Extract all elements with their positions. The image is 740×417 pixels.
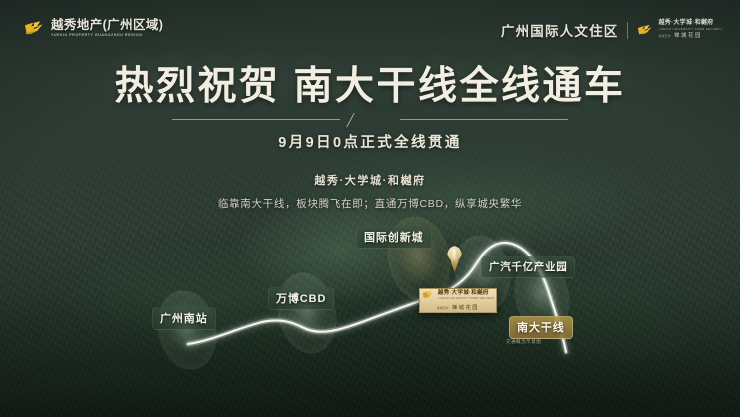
- brand-name-en: YUEXIU PROPERTY GUANGZHOU REGION: [51, 34, 163, 38]
- plate-project-name: 越秀·大学城·和樾府: [438, 290, 495, 297]
- header-bar: 越秀地产(广州区域) YUEXIU PROPERTY GUANGZHOU REG…: [0, 0, 740, 58]
- plate-sub-prefix: 璀璨首作: [437, 306, 449, 310]
- page-title: 热烈祝贺南大干线全线通车: [0, 66, 740, 107]
- project-logo[interactable]: 越秀·大学城·和樾府 YUEXIU UNIVERSITY TOWN HEYUEF…: [637, 20, 722, 39]
- yuexiu-bird-mark-icon: [24, 20, 46, 37]
- project-logo-sub: 禅城花园: [674, 33, 702, 39]
- plate-sub: 禅城花园: [452, 304, 479, 311]
- brand-logo[interactable]: 越秀地产(广州区域) YUEXIU PROPERTY GUANGZHOU REG…: [24, 19, 163, 38]
- map-label-guangzhou-south[interactable]: 广州南站: [152, 307, 216, 330]
- header-divider: [627, 22, 628, 39]
- route-line-layer: [0, 180, 740, 417]
- title-part-2: 南大干线全线通车: [294, 65, 626, 108]
- plate-project-name-en: YUEXIU UNIVERSITY TOWN HEYUEFU: [438, 297, 495, 300]
- header-right-group: 广州国际人文住区 越秀·大学城·和樾府 YUEXIU UNIVERSITY TO…: [501, 20, 722, 40]
- map-label-wanbo-cbd[interactable]: 万博CBD: [268, 287, 334, 310]
- title-divider: [172, 114, 568, 126]
- project-logo-name-en: YUEXIU UNIVERSITY TOWN HEYUEFU: [658, 28, 722, 32]
- poster-canvas: 越秀地产(广州区域) YUEXIU PROPERTY GUANGZHOU REG…: [0, 0, 740, 417]
- map-label-gac-park[interactable]: 广汽千亿产业园: [481, 256, 575, 278]
- title-part-1: 热烈祝贺: [114, 65, 280, 108]
- location-pin-icon: [447, 246, 462, 272]
- map-caption-disclaimer: 交通概念示意图: [506, 339, 541, 345]
- district-label: 广州国际人文住区: [501, 20, 619, 40]
- project-logo-sub-prefix: 璀璨首作: [658, 34, 670, 38]
- route-map: 广州南站 万博CBD 国际创新城 广汽千亿产业园 南大干线 交通概念示意图 越秀…: [0, 180, 740, 417]
- map-project-plate[interactable]: 越秀·大学城·和樾府 YUEXIU UNIVERSITY TOWN HEYUEF…: [419, 288, 497, 313]
- brand-name-cn: 越秀地产(广州区域): [51, 19, 163, 32]
- hero-subtitle: 9月9日0点正式全线贯通: [0, 131, 740, 152]
- yuexiu-bird-mark-icon: [637, 24, 654, 37]
- map-label-innovation-city[interactable]: 国际创新城: [356, 226, 432, 249]
- map-label-nanda-road[interactable]: 南大干线: [509, 316, 573, 339]
- yuexiu-bird-mark-icon: [422, 290, 435, 300]
- project-logo-sub-row: 璀璨首作 禅城花园: [658, 33, 722, 40]
